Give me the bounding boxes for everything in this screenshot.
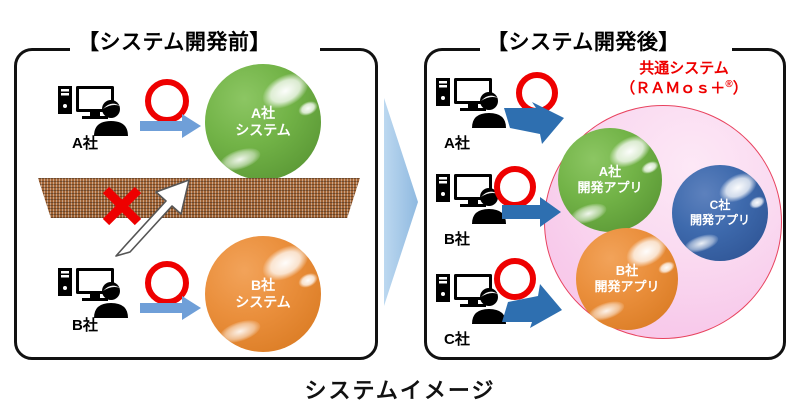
b-company-system-line1: B社 <box>251 277 275 295</box>
b-company-app-line2: 開発アプリ <box>594 279 659 295</box>
actor-a-after-label: A社 <box>444 132 470 153</box>
a-company-system-line1: A社 <box>251 105 275 123</box>
panel-after-title: 【システム開発後】 <box>487 26 680 56</box>
b-company-app-line1: B社 <box>616 263 638 279</box>
flow-arrow-a-before <box>140 113 202 144</box>
actor-a-before <box>56 80 142 136</box>
flow-arrow-b-before <box>140 295 202 326</box>
common-system-label: 共通システム （ＲＡＭｏｓ＋®） <box>584 60 784 99</box>
actor-b-before <box>56 262 142 318</box>
ramos-text: ＲＡＭｏｓ＋ <box>635 80 725 97</box>
actor-b-after-label: B社 <box>444 228 470 249</box>
a-company-app-line1: A社 <box>599 164 621 180</box>
a-company-system-line2: システム <box>235 122 291 140</box>
c-company-app-sphere: C社 開発アプリ <box>672 165 768 261</box>
pc-person-icon <box>56 262 142 318</box>
panel-before-title: 【システム開発前】 <box>78 26 271 56</box>
actor-c-after-label: C社 <box>444 328 470 349</box>
red-x-mark <box>100 184 144 228</box>
transition-arrow <box>382 98 420 306</box>
common-system-line1: 共通システム <box>584 60 784 79</box>
diagram-canvas: 【システム開発前】 A社 A社 システム <box>0 0 800 419</box>
registered-mark: ® <box>725 79 732 90</box>
paren-close: ） <box>733 80 748 97</box>
figure-caption: システムイメージ <box>0 373 800 405</box>
b-company-app-sphere: B社 開発アプリ <box>576 228 678 330</box>
b-company-system-sphere: B社 システム <box>205 236 321 352</box>
actor-a-before-label: A社 <box>72 132 98 153</box>
a-company-app-sphere: A社 開発アプリ <box>558 128 662 232</box>
sphere-gloss-small <box>747 194 766 210</box>
actor-b-before-label: B社 <box>72 314 98 335</box>
pc-person-icon <box>56 80 142 136</box>
a-company-system-sphere: A社 システム <box>205 64 321 180</box>
b-company-system-line2: システム <box>235 294 291 312</box>
a-company-app-line2: 開発アプリ <box>577 180 642 196</box>
c-company-app-line2: 開発アプリ <box>690 213 750 228</box>
paren-open: （ <box>620 80 635 97</box>
sphere-gloss-small <box>656 259 676 276</box>
flow-arrow-c-after <box>500 272 568 333</box>
sphere-gloss-small <box>296 271 319 291</box>
flow-arrow-b-after <box>502 196 562 233</box>
flow-arrow-a-after <box>502 102 570 161</box>
sphere-gloss-small <box>640 159 661 177</box>
common-system-line2: （ＲＡＭｏｓ＋®） <box>584 79 784 99</box>
c-company-app-line1: C社 <box>710 198 731 213</box>
sphere-gloss-small <box>296 99 319 119</box>
